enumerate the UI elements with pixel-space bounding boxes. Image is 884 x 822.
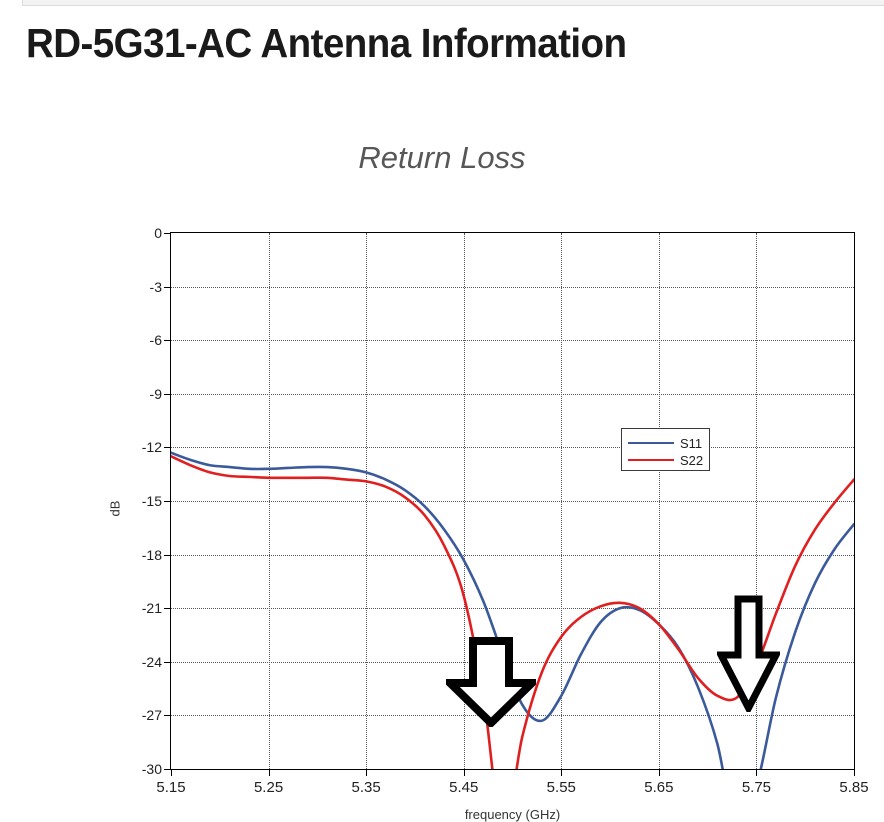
x-tick-mark: [659, 769, 660, 776]
y-tick-label: -15: [142, 493, 162, 509]
down-arrow-icon-first-null: [446, 637, 536, 727]
x-tick-label: 5.35: [352, 779, 381, 796]
x-tick-label: 5.45: [449, 779, 478, 796]
y-tick-mark: [164, 769, 171, 770]
x-tick-mark: [756, 769, 757, 776]
legend-swatch-s22: [628, 459, 674, 461]
y-tick-mark: [164, 394, 171, 395]
x-tick-mark: [366, 769, 367, 776]
page-title: RD-5G31-AC Antenna Information: [26, 20, 825, 67]
y-axis-title: dB: [108, 501, 123, 517]
x-tick-mark: [561, 769, 562, 776]
y-tick-label: -3: [150, 279, 162, 295]
y-tick-mark: [164, 608, 171, 609]
x-tick-label: 5.65: [644, 779, 673, 796]
y-tick-label: -30: [142, 761, 162, 777]
legend-label-s11: S11: [680, 437, 702, 450]
x-tick-mark: [171, 769, 172, 776]
y-tick-mark: [164, 447, 171, 448]
chart-legend: S11S22: [621, 428, 710, 471]
return-loss-chart-figure: Return Loss 0-3-6-9-12-15-18-21-24-27-30…: [0, 118, 884, 815]
y-tick-mark: [164, 715, 171, 716]
y-tick-mark: [164, 233, 171, 234]
y-tick-label: 0: [154, 225, 162, 241]
legend-item-s11: S11: [628, 434, 706, 452]
y-tick-label: -27: [142, 707, 162, 723]
plot-area: 0-3-6-9-12-15-18-21-24-27-30 5.155.255.3…: [170, 232, 855, 770]
y-tick-mark: [164, 501, 171, 502]
y-tick-mark: [164, 340, 171, 341]
x-tick-mark: [854, 769, 855, 776]
legend-label-s22: S22: [680, 454, 703, 467]
x-tick-mark: [464, 769, 465, 776]
x-tick-label: 5.15: [156, 779, 185, 796]
y-tick-label: -6: [150, 332, 162, 348]
x-tick-label: 5.85: [839, 779, 868, 796]
y-tick-mark: [164, 287, 171, 288]
x-tick-label: 5.25: [254, 779, 283, 796]
x-tick-label: 5.75: [742, 779, 771, 796]
x-tick-label: 5.55: [547, 779, 576, 796]
y-tick-mark: [164, 555, 171, 556]
window-top-bar: [22, 0, 884, 6]
y-tick-label: -18: [142, 547, 162, 563]
y-tick-label: -21: [142, 600, 162, 616]
y-tick-label: -24: [142, 654, 162, 670]
legend-item-s22: S22: [628, 451, 706, 469]
chart-title: Return Loss: [0, 140, 884, 176]
down-arrow-icon-second-null: [717, 595, 780, 712]
x-tick-mark: [269, 769, 270, 776]
y-tick-label: -9: [150, 386, 162, 402]
legend-swatch-s11: [628, 442, 674, 444]
y-tick-label: -12: [142, 439, 162, 455]
y-tick-mark: [164, 662, 171, 663]
